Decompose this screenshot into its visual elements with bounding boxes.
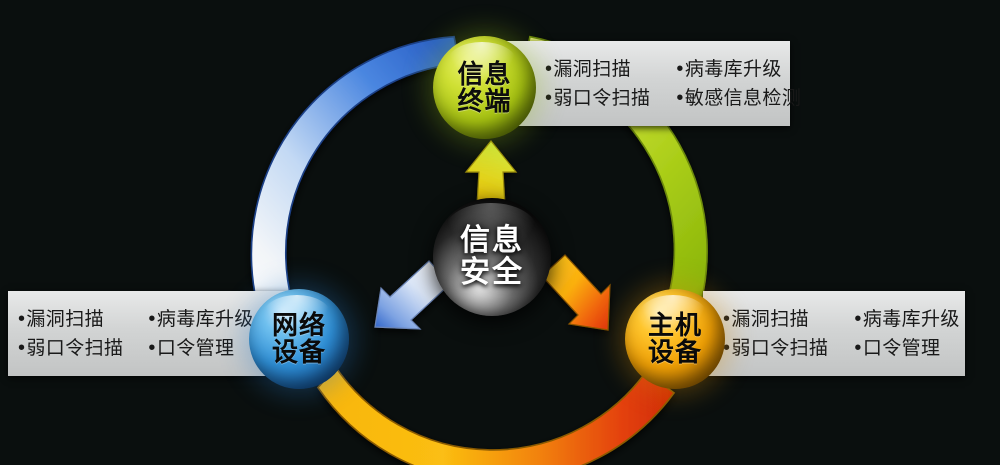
list-item: •敏感信息检测: [676, 84, 801, 113]
node-host-label-line2: 设备: [648, 339, 702, 366]
list-item-label: 病毒库升级: [157, 309, 254, 330]
list-item-label: 病毒库升级: [685, 59, 782, 80]
node-host[interactable]: 主机 设备: [625, 289, 725, 389]
panel-network-col1: •漏洞扫描 •弱口令扫描: [18, 305, 123, 363]
list-item-label: 口令管理: [863, 338, 941, 359]
list-item: •弱口令扫描: [18, 334, 123, 363]
node-network-label-line1: 网络: [272, 312, 326, 339]
node-terminal-label: 信息 终端: [457, 61, 511, 115]
arrow-down-right-icon: [542, 255, 610, 330]
panel-terminal-col2: •病毒库升级 •敏感信息检测: [676, 55, 801, 113]
node-terminal-label-line1: 信息: [457, 61, 511, 88]
list-item-label: 弱口令扫描: [553, 88, 650, 109]
node-center-information-security[interactable]: 信息 安全: [433, 198, 551, 316]
list-item-label: 漏洞扫描: [553, 59, 631, 80]
panel-terminal-col1: •漏洞扫描 •弱口令扫描: [545, 55, 650, 113]
list-item: •弱口令扫描: [723, 334, 828, 363]
node-network[interactable]: 网络 设备: [249, 289, 349, 389]
bullet-icon: •: [854, 337, 862, 359]
list-item: •弱口令扫描: [545, 84, 650, 113]
list-item: •漏洞扫描: [723, 305, 828, 334]
panel-host: •漏洞扫描 •弱口令扫描 •病毒库升级 •口令管理: [703, 291, 965, 376]
list-item-label: 口令管理: [157, 338, 235, 359]
node-center-label-line1: 信息: [460, 225, 524, 257]
diagram-canvas: •漏洞扫描 •弱口令扫描 •病毒库升级 •敏感信息检测 •漏洞扫描 •弱口令扫描…: [0, 0, 1000, 465]
list-item: •病毒库升级: [676, 55, 801, 84]
node-center-label-line2: 安全: [460, 257, 524, 289]
bullet-icon: •: [676, 58, 684, 80]
list-item-label: 病毒库升级: [863, 309, 960, 330]
list-item: •漏洞扫描: [545, 55, 650, 84]
list-item: •口令管理: [854, 334, 959, 363]
list-item-label: 漏洞扫描: [26, 309, 104, 330]
node-center-label: 信息 安全: [460, 225, 524, 289]
bullet-icon: •: [148, 308, 156, 330]
panel-network-col2: •病毒库升级 •口令管理: [148, 305, 253, 363]
node-host-label: 主机 设备: [648, 312, 702, 366]
panel-terminal: •漏洞扫描 •弱口令扫描 •病毒库升级 •敏感信息检测: [497, 41, 790, 126]
list-item: •漏洞扫描: [18, 305, 123, 334]
list-item-label: 漏洞扫描: [731, 309, 809, 330]
list-item: •口令管理: [148, 334, 253, 363]
node-terminal-label-line2: 终端: [457, 88, 511, 115]
list-item-label: 弱口令扫描: [26, 338, 123, 359]
node-host-label-line1: 主机: [648, 312, 702, 339]
bullet-icon: •: [854, 308, 862, 330]
bullet-icon: •: [148, 337, 156, 359]
node-terminal[interactable]: 信息 终端: [433, 36, 536, 139]
list-item: •病毒库升级: [854, 305, 959, 334]
node-network-label-line2: 设备: [272, 339, 326, 366]
arc-bottom: [318, 367, 674, 465]
panel-host-col2: •病毒库升级 •口令管理: [854, 305, 959, 363]
list-item: •病毒库升级: [148, 305, 253, 334]
list-item-label: 弱口令扫描: [731, 338, 828, 359]
list-item-label: 敏感信息检测: [685, 88, 801, 109]
bullet-icon: •: [676, 87, 684, 109]
panel-host-col1: •漏洞扫描 •弱口令扫描: [723, 305, 828, 363]
node-network-label: 网络 设备: [272, 312, 326, 366]
